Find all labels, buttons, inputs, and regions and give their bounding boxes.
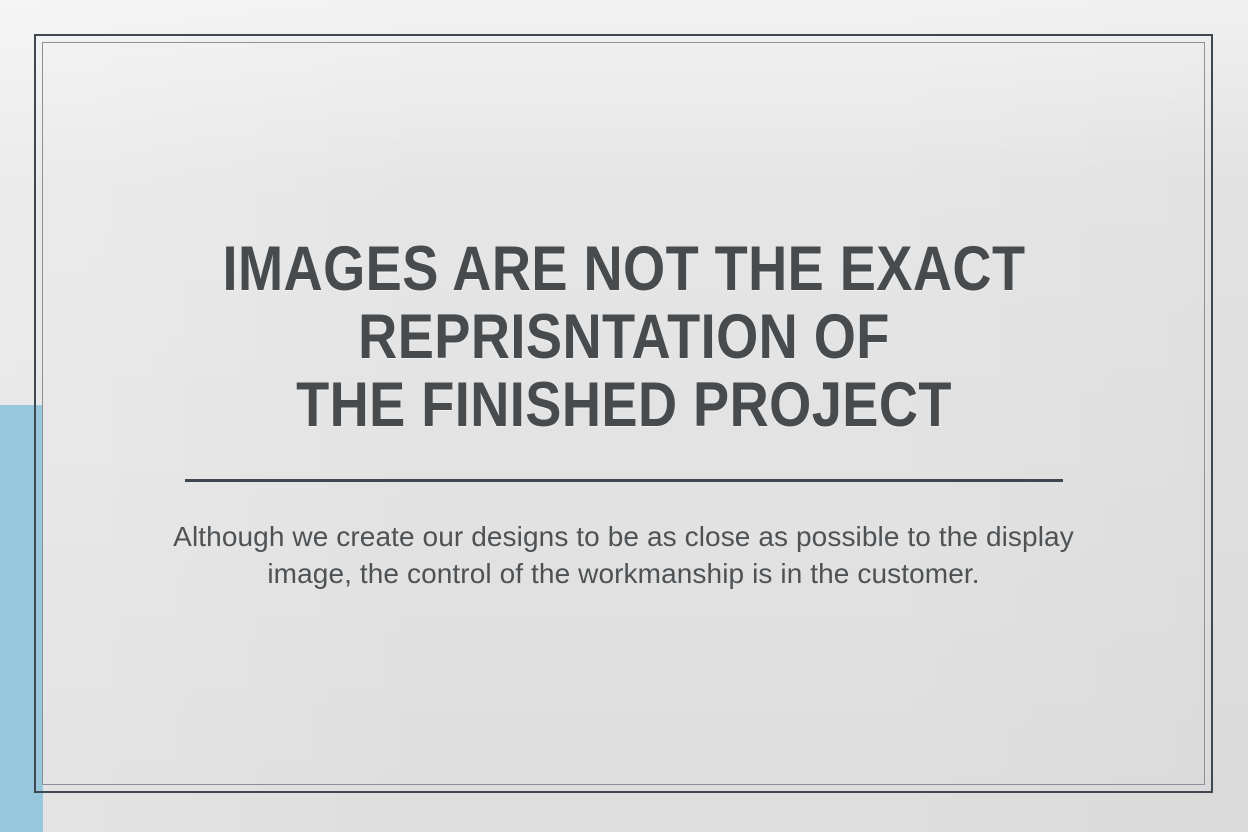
headline-line-2: THE FINISHED PROJECT xyxy=(189,371,1058,439)
headline-line-1: IMAGES ARE NOT THE EXACT REPRISNTATION O… xyxy=(189,235,1058,371)
disclaimer-slide: IMAGES ARE NOT THE EXACT REPRISNTATION O… xyxy=(0,0,1248,832)
headline: IMAGES ARE NOT THE EXACT REPRISNTATION O… xyxy=(189,235,1058,439)
body-copy-line-2: image, the control of the workmanship is… xyxy=(144,555,1104,592)
body-copy-line-1: Although we create our designs to be as … xyxy=(144,518,1104,555)
slide-content: IMAGES ARE NOT THE EXACT REPRISNTATION O… xyxy=(42,42,1205,785)
horizontal-divider xyxy=(185,479,1063,482)
body-copy: Although we create our designs to be as … xyxy=(144,518,1104,592)
